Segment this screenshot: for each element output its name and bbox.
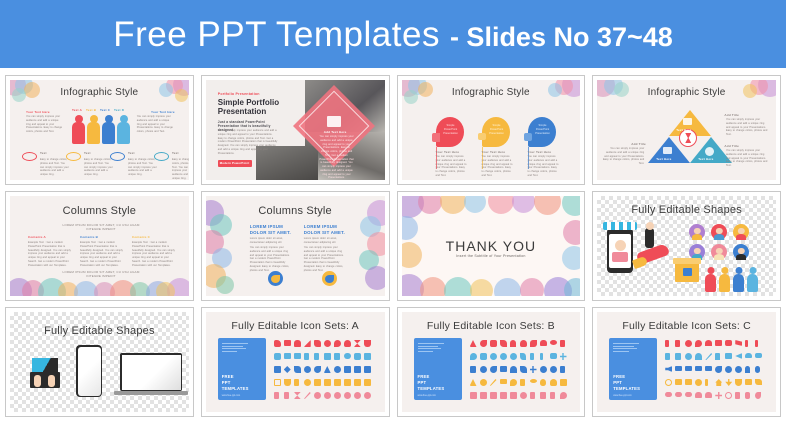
- slide-canvas-47: Fully Editable Icon Sets: B FREE PPT TEM…: [402, 312, 581, 412]
- slide-thumbnail-43[interactable]: THANK YOU Insert the Subtitle of Your Pr…: [397, 191, 586, 301]
- paper-person: [733, 274, 744, 292]
- panel-brand-line3: TEMPLATES: [222, 386, 249, 392]
- icon-cell: [665, 379, 672, 386]
- camera-icon: [683, 118, 692, 125]
- free-ppt-templates-panel: FREE PPT TEMPLATES www.free-ppt.com: [609, 338, 657, 400]
- icon-cell: [705, 379, 708, 386]
- delivery-box-lid: [673, 258, 701, 264]
- icon-cell: [745, 379, 752, 385]
- icon-cell: [695, 379, 702, 386]
- portfolio-body: You can simply impress your audience and…: [218, 129, 278, 155]
- slide-title-41: Columns Style: [10, 205, 189, 217]
- hand-left-icon: [34, 375, 41, 387]
- slide-title-39: Infographic Style: [402, 87, 581, 98]
- icon-cell: [470, 366, 476, 373]
- segment-label-top: Text Here: [676, 128, 691, 132]
- leaf-body: You can simply impress your audience and…: [436, 155, 468, 178]
- icon-cell: [500, 340, 507, 347]
- icon-cell: [725, 353, 732, 359]
- bullet-body: Easy to change colors, photos and Text. …: [128, 158, 158, 177]
- watercolor-blob: [470, 279, 493, 296]
- icon-cell: [294, 340, 301, 347]
- icon-cell: [364, 353, 371, 360]
- leaf-body: You can simply impress your audience and…: [482, 155, 514, 178]
- icon-cell: [675, 340, 680, 347]
- slide-canvas-39: Infographic Style Simple PowerPoint Pres…: [402, 80, 581, 180]
- panel-heading-lines: [418, 343, 444, 353]
- icon-cell: [480, 340, 487, 347]
- icon-cell: [735, 340, 742, 346]
- icon-cell: [510, 392, 517, 399]
- icon-cell: [294, 379, 299, 386]
- icon-cell: [755, 353, 762, 358]
- icon-cell: [715, 353, 720, 360]
- icon-cell: [480, 366, 487, 373]
- bullet-body: Easy to change colors, photos and Text. …: [172, 158, 189, 180]
- icon-cell: [500, 353, 507, 360]
- panel-brand-line3: TEMPLATES: [613, 386, 640, 392]
- slide-thumbnail-45[interactable]: Fully Editable Shapes: [5, 307, 194, 417]
- icon-cell: [364, 392, 371, 399]
- icon-cell: [745, 392, 750, 399]
- thank-you-subtitle: Insert the Subtitle of Your Presentation: [402, 254, 581, 258]
- hands-laptop-glare: [32, 358, 58, 372]
- icon-cell: [354, 366, 361, 373]
- leaf-badge-text: Simple PowerPoint Presentation: [535, 124, 551, 135]
- portfolio-title-line2: Presentation: [218, 107, 266, 116]
- laptop-base: [114, 391, 188, 395]
- column-heading-line1: LOREM IPSUM: [304, 224, 337, 229]
- slide-thumbnail-46[interactable]: Fully Editable Icon Sets: A FREE PPT TEM…: [201, 307, 390, 417]
- slide-thumbnail-37[interactable]: Infographic Style Text A Text B Text C T…: [5, 75, 194, 185]
- icon-row-light-blue: [274, 353, 371, 360]
- icon-cell: [274, 379, 281, 386]
- icon-cell: [560, 392, 567, 399]
- icon-cell: [685, 340, 692, 347]
- shop-laptop-icon: [612, 252, 628, 262]
- icon-cell: [470, 379, 477, 386]
- column-heading-line1: LOREM IPSUM: [250, 224, 283, 229]
- bullet-label: Text: [40, 151, 47, 155]
- icon-cell: [675, 366, 682, 371]
- callout-body: You can simply impress your audience and…: [726, 149, 768, 168]
- icon-cell: [354, 340, 361, 347]
- icon-cell: [755, 392, 761, 399]
- icon-cell: [324, 366, 331, 373]
- hand-right-icon: [48, 375, 55, 387]
- icon-cell: [540, 340, 547, 346]
- icon-cell: [284, 353, 291, 359]
- icon-cell: [294, 353, 301, 359]
- slide-canvas-41: Columns Style LOREM IPSUM DOLOR SIT AMET…: [10, 196, 189, 296]
- icon-cell: [560, 366, 565, 373]
- slide-thumbnail-40[interactable]: Infographic Style Text Here Text Here Te…: [592, 75, 781, 185]
- icon-cell: [755, 366, 760, 373]
- icon-cell: [510, 379, 517, 386]
- slide-art-icon-set-a: Fully Editable Icon Sets: A FREE PPT TEM…: [206, 312, 385, 412]
- icon-row-blue: [470, 366, 567, 373]
- watercolor-blob: [520, 278, 544, 296]
- leaf-heading: Your Text Here: [436, 150, 460, 154]
- column-heading: Contents C: [132, 235, 150, 239]
- slide-title-44: Fully Editable Shapes: [597, 204, 776, 216]
- bullet-label: Text: [84, 151, 91, 155]
- slide-canvas-38: Add Text Here You can simply impress you…: [206, 80, 385, 180]
- panel-brand-url: www.free-ppt.com: [613, 395, 631, 397]
- tag-label: Text D: [114, 108, 124, 112]
- icon-row-red: [274, 340, 371, 347]
- side-body-left: You can simply impress your audience and…: [26, 115, 64, 134]
- slide-title-46: Fully Editable Icon Sets: A: [206, 320, 385, 332]
- icon-row-light-blue: [665, 353, 762, 360]
- page-header: Free PPT Templates - Slides No 37~48: [0, 0, 786, 68]
- watercolor-blob: [562, 196, 580, 216]
- icon-cell: [675, 379, 682, 385]
- icon-cell: [480, 353, 487, 360]
- watercolor-blob: [440, 196, 466, 214]
- slide-canvas-45: Fully Editable Shapes: [10, 312, 189, 412]
- avatar: [689, 224, 705, 240]
- lead-text: LOREM IPSUM DOLOR SIT AMET, CU USU AGAM …: [55, 223, 147, 231]
- tag-label: Text C: [100, 108, 110, 112]
- icon-cell: [470, 340, 477, 347]
- column-heading-line2: DOLOR SIT AMET.: [250, 230, 291, 235]
- icon-cell: [304, 353, 309, 360]
- icon-cell: [490, 379, 497, 386]
- watercolor-blob: [420, 277, 446, 296]
- icon-row-blue: [274, 366, 371, 373]
- briefcase-icon: [22, 152, 37, 161]
- icon-cell: [510, 340, 516, 347]
- icon-cell: [334, 392, 341, 399]
- icon-cell: [334, 340, 341, 347]
- slide-canvas-48: Fully Editable Icon Sets: C FREE PPT TEM…: [597, 312, 776, 412]
- watercolor-blob: [216, 276, 234, 294]
- icon-cell: [735, 353, 742, 359]
- leaf-heading: Your Text Here: [528, 150, 552, 154]
- icon-cell: [550, 353, 557, 359]
- diamond-label: Add Text Here: [324, 130, 347, 134]
- panel-brand-line3: TEMPLATES: [418, 386, 445, 392]
- icon-cell: [294, 366, 301, 373]
- slide-thumbnail-38[interactable]: Add Text Here You can simply impress you…: [201, 75, 390, 185]
- panel-brand-url: www.free-ppt.com: [222, 395, 240, 397]
- slide-thumbnail-42[interactable]: Columns Style LOREM IPSUM DOLOR SIT AMET…: [201, 191, 390, 301]
- column-body: Example Text : Get a modern PowerPoint P…: [132, 241, 176, 267]
- icon-cell: [344, 379, 351, 386]
- icon-cell: [354, 379, 361, 386]
- icon-cell: [324, 379, 331, 386]
- page-title: Free PPT Templates - Slides No 37~48: [113, 17, 673, 52]
- slide-thumbnail-48[interactable]: Fully Editable Icon Sets: C FREE PPT TEM…: [592, 307, 781, 417]
- tag-label: Text B: [86, 108, 96, 112]
- icon-cell: [324, 353, 331, 360]
- watercolor-blob: [488, 196, 514, 214]
- side-heading-right: Your Text Here: [151, 110, 175, 114]
- slide-canvas-37: Infographic Style Text A Text B Text C T…: [10, 80, 189, 180]
- icon-cell: [550, 392, 555, 399]
- icon-cell: [314, 340, 321, 347]
- icon-cell: [695, 366, 702, 371]
- monitor-icon: [110, 152, 125, 161]
- icon-cell: [274, 392, 279, 399]
- column-heading: Contents A: [28, 235, 46, 239]
- icon-cell: [354, 392, 361, 399]
- leaf-body: You can simply impress your audience and…: [528, 155, 560, 178]
- icon-cell: [324, 340, 331, 347]
- icon-cell: [540, 392, 546, 399]
- person-figure: [117, 122, 130, 144]
- chat-icon: [478, 133, 486, 140]
- icon-cell: [560, 353, 567, 360]
- column-body: You can simply impress your audience and…: [304, 246, 344, 272]
- column-heading: Contents B: [80, 235, 98, 239]
- icon-cell: [715, 379, 722, 386]
- icon-cell: [530, 366, 537, 373]
- icon-cell: [685, 379, 692, 385]
- slide-art-portfolio: Add Text Here You can simply impress you…: [206, 80, 385, 180]
- icon-cell: [304, 392, 311, 399]
- slide-canvas-46: Fully Editable Icon Sets: A FREE PPT TEM…: [206, 312, 385, 412]
- leaf-badge-text: Simple PowerPoint Presentation: [489, 124, 505, 135]
- avatar: [733, 244, 749, 260]
- slide-art-two-columns: Columns Style LOREM IPSUM DOLOR SIT AMET…: [206, 196, 385, 296]
- icon-cell: [755, 379, 762, 385]
- icon-cell: [735, 379, 742, 386]
- icon-cell: [490, 392, 497, 399]
- icon-cell: [550, 379, 557, 386]
- paper-person: [719, 274, 730, 292]
- icon-cell: [755, 340, 758, 347]
- icon-cell: [695, 392, 702, 398]
- segment-label-left: Text Here: [656, 157, 671, 161]
- delivery-box-label: [683, 268, 692, 276]
- icon-cell: [364, 379, 371, 386]
- icon-cell: [705, 366, 712, 371]
- smartphone-icon: [76, 345, 102, 397]
- icon-cell: [540, 366, 547, 373]
- briefcase-icon: [663, 147, 672, 154]
- leaf-glyph-icon: [325, 275, 334, 283]
- column-heading-line2: DOLOR SIT AMET.: [304, 230, 345, 235]
- callout-heading: Add Title: [724, 144, 739, 148]
- diamond-body: You can simply impress your audience and…: [319, 135, 355, 180]
- column-body: You can simply impress your audience and…: [250, 246, 290, 272]
- slide-title-40: Infographic Style: [597, 87, 776, 98]
- eyebrow-label: Portfolio Presentation: [218, 92, 260, 96]
- icon-row-light-blue: [470, 353, 567, 360]
- column-body: Example Text : Get a modern PowerPoint P…: [80, 241, 124, 267]
- callout-body: You can simply impress your audience and…: [602, 147, 644, 166]
- icon-cell: [520, 366, 527, 373]
- slide-thumbnail-47[interactable]: Fully Editable Icon Sets: B FREE PPT TEM…: [397, 307, 586, 417]
- icon-cell: [705, 340, 712, 346]
- icon-cell: [520, 379, 525, 386]
- leaf-heading: Your Text Here: [482, 150, 506, 154]
- bullet-body: Easy to change colors, photos and Text. …: [84, 158, 114, 177]
- icon-row-orange: [274, 379, 371, 386]
- icon-row-red: [470, 340, 567, 347]
- document-icon: [432, 133, 440, 142]
- icon-row-pink: [665, 392, 762, 399]
- icon-cell: [735, 366, 742, 373]
- circle-icon: [66, 152, 81, 161]
- shop-awning-icon: [603, 222, 637, 230]
- icon-row-pink: [470, 392, 567, 399]
- slide-thumbnail-44[interactable]: Fully Editable Shapes: [592, 191, 781, 301]
- icon-cell: [470, 353, 477, 360]
- slide-thumbnail-grid: Infographic Style Text A Text B Text C T…: [0, 68, 786, 423]
- icon-cell: [314, 392, 321, 399]
- person-figure: [87, 122, 100, 144]
- column-sub: Lorem ipsum dolor sit amet, consectetuer…: [250, 237, 290, 245]
- icon-cell: [510, 353, 517, 360]
- icon-cell: [725, 379, 732, 386]
- building-icon: [327, 116, 341, 127]
- slide-art-icon-set-b: Fully Editable Icon Sets: B FREE PPT TEM…: [402, 312, 581, 412]
- icon-row-blue: [665, 366, 762, 373]
- businessman-body: [645, 228, 654, 248]
- slide-art-shapes-devices: Fully Editable Shapes: [10, 312, 189, 412]
- tag-label: Text A: [72, 108, 82, 112]
- icon-cell: [520, 392, 527, 399]
- slide-canvas-42: Columns Style LOREM IPSUM DOLOR SIT AMET…: [206, 196, 385, 296]
- icon-cell: [550, 366, 557, 373]
- icon-cell: [364, 366, 371, 373]
- avatar: [711, 244, 727, 260]
- icon-cell: [510, 366, 517, 373]
- column-body: Example Text : Get a modern PowerPoint P…: [28, 241, 72, 267]
- slide-art-three-columns: Columns Style LOREM IPSUM DOLOR SIT AMET…: [10, 196, 189, 296]
- icon-row-pink: [274, 392, 371, 399]
- callout-body: You can simply impress your audience and…: [726, 118, 768, 137]
- watercolor-blob: [402, 216, 418, 240]
- icon-cell: [540, 379, 546, 386]
- segment-label-right: Text Here: [698, 157, 713, 161]
- icon-cell: [284, 366, 291, 373]
- icon-cell: [314, 379, 321, 386]
- column-sub: Lorem ipsum dolor sit amet, consectetuer…: [304, 237, 344, 245]
- modern-powerpoint-button-label: Modern PowerPoint: [220, 161, 250, 165]
- icon-cell: [685, 353, 692, 360]
- slide-title-45: Fully Editable Shapes: [10, 325, 189, 337]
- icon-cell: [715, 340, 722, 346]
- icon-cell: [344, 392, 351, 399]
- laptop-icon: [120, 353, 182, 391]
- icon-cell: [665, 353, 670, 360]
- icon-cell: [560, 379, 567, 386]
- icon-cell: [745, 340, 748, 347]
- slide-title-48: Fully Editable Icon Sets: C: [597, 320, 776, 332]
- slide-art-shapes-people: Fully Editable Shapes: [597, 196, 776, 296]
- icon-cell: [520, 353, 526, 360]
- slide-title-42: Columns Style: [206, 205, 385, 217]
- slide-canvas-44: Fully Editable Shapes: [597, 196, 776, 296]
- icon-cell: [695, 353, 702, 360]
- icon-cell: [470, 392, 477, 399]
- icon-cell: [735, 392, 740, 399]
- gear-icon: [154, 152, 169, 161]
- free-ppt-templates-panel: FREE PPT TEMPLATES www.free-ppt.com: [218, 338, 266, 400]
- slide-thumbnail-41[interactable]: Columns Style LOREM IPSUM DOLOR SIT AMET…: [5, 191, 194, 301]
- bullet-body: Easy to change colors, photos and Text. …: [40, 158, 70, 177]
- icon-cell: [490, 353, 497, 360]
- icon-cell: [304, 340, 311, 347]
- panel-brand-url: www.free-ppt.com: [418, 395, 436, 397]
- icon-cell: [314, 366, 321, 373]
- watercolor-blob: [534, 196, 561, 215]
- slide-thumbnail-39[interactable]: Infographic Style Simple PowerPoint Pres…: [397, 75, 586, 185]
- icon-cell: [354, 353, 361, 360]
- watercolor-blob: [494, 278, 521, 296]
- person-figure: [102, 122, 115, 144]
- icon-cell: [540, 353, 543, 360]
- icon-cell: [344, 340, 351, 347]
- panel-heading-lines: [613, 343, 639, 353]
- watercolor-blob: [464, 196, 486, 213]
- icon-cell: [725, 340, 732, 346]
- icon-cell: [364, 340, 371, 347]
- icon-cell: [725, 392, 732, 399]
- icon-cell: [274, 340, 281, 347]
- icon-row-orange: [665, 379, 762, 386]
- avatar: [733, 224, 749, 240]
- leaf-badge-text: Simple PowerPoint Presentation: [443, 124, 459, 135]
- icon-cell: [490, 340, 497, 347]
- icon-cell: [304, 366, 311, 373]
- icon-cell: [344, 353, 351, 359]
- icon-cell: [530, 392, 535, 399]
- icon-cell: [685, 366, 692, 371]
- slide-canvas-40: Infographic Style Text Here Text Here Te…: [597, 80, 776, 180]
- icon-cell: [334, 366, 341, 373]
- slide-art-thank-you: THANK YOU Insert the Subtitle of Your Pr…: [402, 196, 581, 296]
- side-heading-left: Your Text Here: [26, 110, 50, 114]
- icon-cell: [550, 340, 557, 345]
- slide-title-47: Fully Editable Icon Sets: B: [402, 320, 581, 332]
- icon-cell: [560, 340, 565, 347]
- icon-cell: [665, 392, 672, 397]
- icon-cell: [274, 366, 281, 373]
- slide-art-triangle-infographic: Infographic Style Text Here Text Here Te…: [597, 80, 776, 180]
- icon-cell: [500, 366, 507, 372]
- watercolor-blob: [156, 282, 175, 296]
- icon-cell: [685, 392, 692, 397]
- bullet-label: Text: [172, 151, 179, 155]
- icon-cell: [675, 353, 681, 360]
- paper-person: [705, 274, 716, 292]
- footer-text: LOREM IPSUM DOLOR SIT AMET, CU USU AGAM …: [55, 270, 147, 278]
- icon-cell: [520, 340, 527, 347]
- icon-cell: [314, 353, 319, 360]
- icon-cell: [530, 353, 534, 360]
- icon-cell: [705, 353, 712, 360]
- side-body-right: You can simply impress your audience and…: [137, 115, 175, 134]
- page-title-main: Free PPT Templates: [113, 17, 440, 52]
- icon-cell: [745, 366, 750, 373]
- people-figure-group: [70, 114, 132, 144]
- icon-cell: [715, 366, 722, 373]
- icon-cell: [675, 392, 682, 397]
- icon-cell: [490, 366, 497, 373]
- icon-cell: [705, 392, 712, 398]
- watercolor-blob: [512, 196, 535, 213]
- icon-cell: [745, 353, 752, 358]
- icon-cell: [500, 392, 507, 399]
- slide-art-leaf-infographic: Infographic Style Simple PowerPoint Pres…: [402, 80, 581, 180]
- slide-canvas-43: THANK YOU Insert the Subtitle of Your Pr…: [402, 196, 581, 296]
- icon-cell: [284, 379, 291, 386]
